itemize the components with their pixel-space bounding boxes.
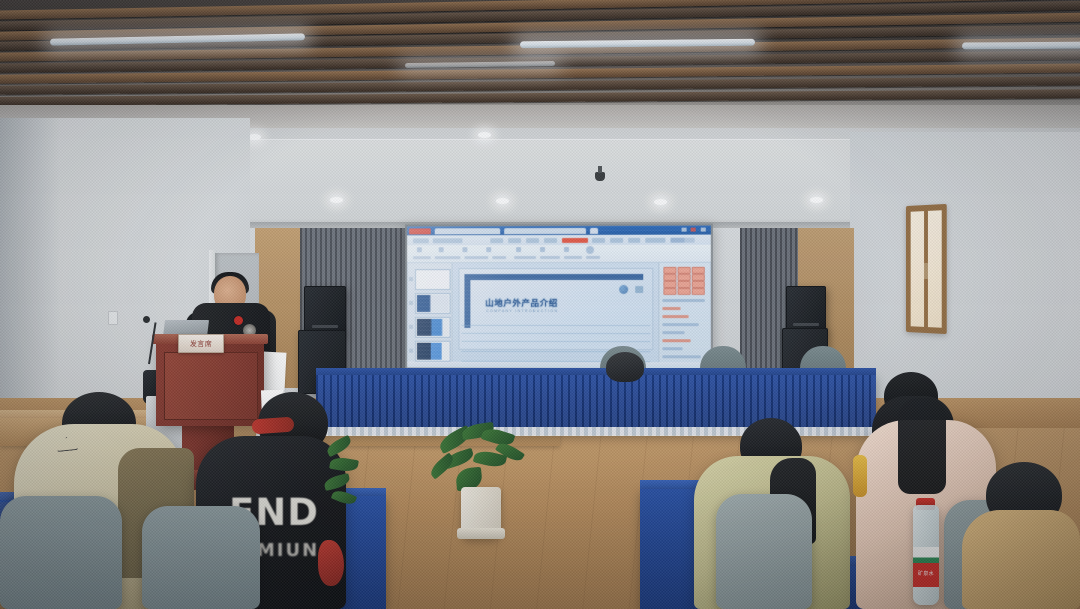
podium-nameplate: 发言席 bbox=[178, 334, 224, 353]
ceiling-projector-icon bbox=[595, 172, 605, 181]
slide-subtitle: COMPANY INTRODUCTION bbox=[486, 309, 558, 313]
ribbon-tab-developer[interactable] bbox=[645, 237, 665, 242]
command-label bbox=[492, 256, 506, 259]
command-label bbox=[586, 256, 600, 259]
slide-accent-bar bbox=[464, 274, 470, 328]
command-icon[interactable] bbox=[540, 247, 545, 252]
globe-icon bbox=[619, 285, 628, 294]
wps-new-tab-button[interactable] bbox=[590, 227, 598, 233]
minimize-icon[interactable] bbox=[682, 228, 687, 232]
window-icon bbox=[906, 204, 947, 334]
design-panel[interactable] bbox=[658, 263, 710, 363]
ribbon-tab-animation[interactable] bbox=[544, 238, 557, 243]
theme-swatch[interactable] bbox=[678, 267, 691, 274]
theme-swatch[interactable] bbox=[663, 267, 676, 274]
ribbon-tab-bar bbox=[407, 235, 711, 246]
theme-swatch[interactable] bbox=[692, 267, 705, 274]
loudspeaker-top-right bbox=[786, 286, 826, 332]
slide-number bbox=[409, 301, 413, 305]
speaker-grille-icon bbox=[312, 325, 338, 328]
slide-thumbnail-panel[interactable] bbox=[408, 263, 452, 362]
panel-field[interactable] bbox=[662, 307, 680, 310]
badge-icon bbox=[635, 286, 643, 293]
command-icon[interactable] bbox=[586, 246, 594, 254]
window-pane bbox=[928, 210, 942, 328]
slide-guide-line bbox=[461, 341, 650, 342]
slide-thumbnail[interactable] bbox=[415, 269, 451, 290]
theme-swatch[interactable] bbox=[692, 274, 705, 281]
command-icon[interactable] bbox=[564, 247, 569, 252]
ceiling-light-strip bbox=[962, 42, 1080, 50]
maximize-icon[interactable] bbox=[701, 228, 706, 232]
podium-front-panel bbox=[164, 352, 258, 420]
downlight bbox=[810, 197, 823, 203]
theme-swatch[interactable] bbox=[663, 274, 676, 281]
window-handle[interactable] bbox=[924, 263, 928, 279]
panel-field[interactable] bbox=[662, 315, 688, 318]
command-label bbox=[413, 256, 431, 259]
downlight bbox=[496, 198, 509, 204]
ribbon-tab-design[interactable] bbox=[508, 238, 521, 243]
slide-thumbnail[interactable] bbox=[415, 293, 451, 314]
wps-document-tab[interactable] bbox=[504, 227, 586, 233]
panel-field[interactable] bbox=[662, 323, 698, 326]
command-label bbox=[464, 256, 488, 259]
command-icon[interactable] bbox=[486, 247, 491, 252]
panel-field[interactable] bbox=[662, 299, 704, 302]
conference-room-photo: 山地户外产品介绍 COMPANY INTRODUCTION bbox=[0, 0, 1080, 609]
theme-swatch[interactable] bbox=[692, 281, 705, 288]
ribbon-commands bbox=[407, 245, 711, 264]
ceiling-recess bbox=[236, 139, 854, 225]
theme-swatch[interactable] bbox=[692, 288, 705, 295]
theme-swatch[interactable] bbox=[663, 281, 676, 288]
ribbon-tab-group[interactable] bbox=[433, 238, 463, 243]
command-label bbox=[435, 256, 461, 259]
thumbnail-preview bbox=[417, 295, 449, 312]
jacket-red-accent bbox=[318, 540, 344, 586]
yellow-item bbox=[853, 455, 867, 497]
slide-guide-line bbox=[461, 333, 650, 334]
audience-person-tan-coat bbox=[962, 510, 1080, 609]
theme-swatch[interactable] bbox=[663, 288, 676, 295]
speaker-grille-icon bbox=[793, 323, 819, 326]
current-slide[interactable]: 山地户外产品介绍 COMPANY INTRODUCTION bbox=[458, 268, 653, 350]
ribbon-tab-transition[interactable] bbox=[526, 238, 539, 243]
command-label bbox=[514, 256, 536, 259]
command-icon[interactable] bbox=[439, 247, 444, 252]
presenter-badge bbox=[234, 316, 243, 325]
wps-tab[interactable] bbox=[435, 228, 500, 234]
audience-chair bbox=[716, 494, 812, 609]
bottle-label: 矿泉水 bbox=[913, 547, 939, 587]
theme-swatch[interactable] bbox=[678, 288, 691, 295]
audience-chair bbox=[142, 506, 260, 609]
command-icon[interactable] bbox=[417, 247, 422, 252]
panel-field[interactable] bbox=[662, 331, 684, 334]
plant-pot-base bbox=[457, 528, 505, 539]
window-pane bbox=[911, 211, 924, 327]
neck-lanyard bbox=[252, 417, 295, 435]
ribbon-tab-section[interactable] bbox=[628, 237, 640, 242]
podium-nameplate-text: 发言席 bbox=[190, 339, 212, 349]
ribbon-tab-start[interactable] bbox=[413, 238, 429, 243]
theme-swatch[interactable] bbox=[678, 274, 691, 281]
bottle-label-text: 矿泉水 bbox=[913, 570, 939, 577]
theme-swatch[interactable] bbox=[678, 281, 691, 288]
slide-number bbox=[409, 325, 413, 329]
downlight bbox=[478, 132, 491, 138]
command-label bbox=[564, 256, 582, 259]
command-icon[interactable] bbox=[516, 247, 521, 252]
close-icon[interactable] bbox=[691, 228, 696, 232]
slide-title: 山地户外产品介绍 bbox=[485, 297, 558, 309]
audience-hair-strands bbox=[898, 398, 946, 494]
panel-field[interactable] bbox=[662, 355, 700, 358]
theme-swatch-grid[interactable] bbox=[663, 267, 705, 293]
slide-number bbox=[409, 277, 413, 281]
audience-chair bbox=[0, 496, 122, 609]
projection-screen: 山地户外产品介绍 COMPANY INTRODUCTION bbox=[407, 226, 711, 369]
slide-number bbox=[409, 349, 413, 353]
light-switch-icon[interactable] bbox=[108, 311, 118, 325]
panel-field[interactable] bbox=[662, 347, 682, 350]
audience-head bbox=[606, 352, 644, 382]
slide-accent-bar bbox=[470, 274, 643, 280]
microphone-icon bbox=[143, 316, 150, 323]
command-icon[interactable] bbox=[462, 247, 467, 252]
slide-thumbnail[interactable] bbox=[415, 341, 451, 362]
ribbon-tab-slideshow[interactable] bbox=[562, 237, 588, 242]
thumbnail-preview bbox=[417, 343, 449, 360]
command-label bbox=[540, 256, 560, 259]
downlight bbox=[654, 199, 667, 205]
slide-thumbnail[interactable] bbox=[415, 317, 451, 338]
ribbon-tab-review[interactable] bbox=[592, 237, 605, 242]
search-input[interactable] bbox=[670, 237, 694, 242]
panel-field[interactable] bbox=[662, 339, 690, 342]
thumbnail-preview bbox=[417, 319, 449, 336]
slide-guide-line bbox=[461, 325, 650, 326]
ribbon-tab-view[interactable] bbox=[610, 237, 623, 242]
ribbon-tab-insert[interactable] bbox=[490, 238, 503, 243]
wps-logo-icon bbox=[409, 228, 431, 234]
downlight bbox=[330, 197, 343, 203]
loudspeaker-top-left bbox=[304, 286, 346, 334]
